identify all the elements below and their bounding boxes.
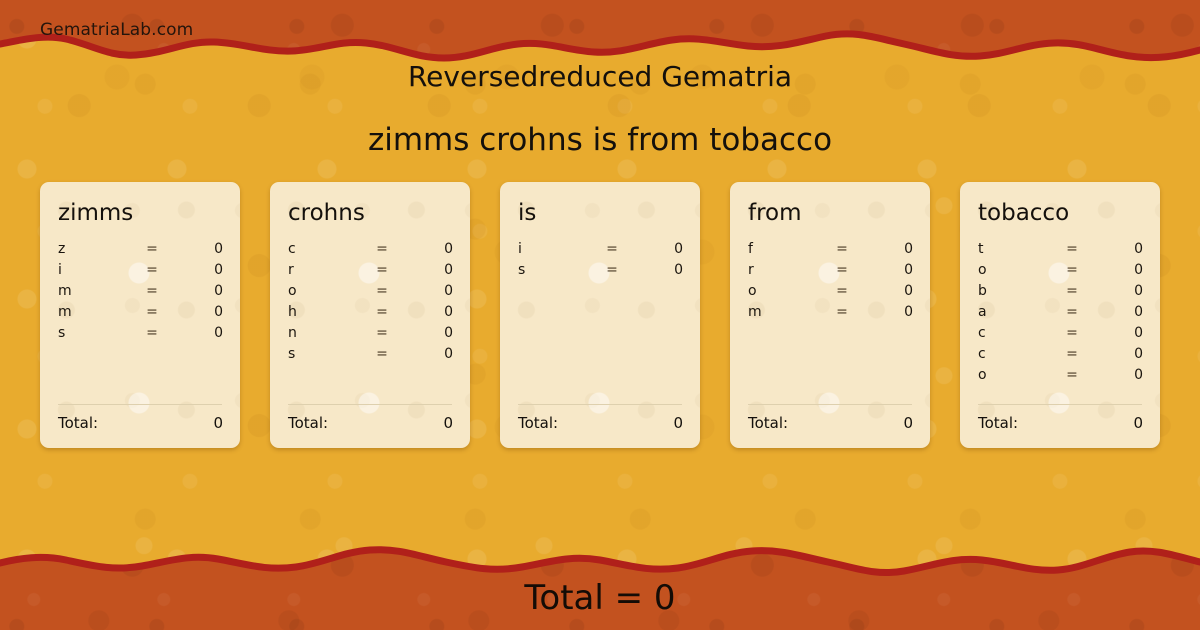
- letter-glyph: o: [288, 283, 361, 299]
- equals-sign: =: [361, 283, 404, 299]
- letter-rows: c=0r=0o=0h=0n=0s=0: [284, 241, 456, 404]
- letter-glyph: h: [288, 304, 361, 320]
- letter-value: 0: [173, 325, 223, 341]
- letter-value: 0: [863, 241, 913, 257]
- letter-value: 0: [403, 325, 453, 341]
- card-divider: [288, 404, 452, 405]
- letter-glyph: s: [288, 346, 361, 362]
- letter-glyph: n: [288, 325, 361, 341]
- letter-glyph: s: [58, 325, 131, 341]
- card-total-label: Total:: [748, 414, 903, 432]
- letter-glyph: c: [978, 325, 1051, 341]
- equals-sign: =: [821, 304, 864, 320]
- letter-value: 0: [1093, 241, 1143, 257]
- letter-value: 0: [633, 241, 683, 257]
- card-word-title: zimms: [58, 202, 226, 225]
- card-total-row: Total:0: [974, 414, 1146, 434]
- card-total-value: 0: [1133, 414, 1143, 432]
- letter-value: 0: [173, 262, 223, 278]
- word-card: fromf=0r=0o=0m=0Total:0: [730, 182, 930, 448]
- letter-row: i=0: [54, 262, 226, 283]
- equals-sign: =: [131, 283, 174, 299]
- equals-sign: =: [591, 241, 634, 257]
- letter-rows: t=0o=0b=0a=0c=0c=0o=0: [974, 241, 1146, 404]
- letter-value: 0: [403, 241, 453, 257]
- card-divider: [978, 404, 1142, 405]
- card-word-title: crohns: [288, 202, 456, 225]
- equals-sign: =: [1051, 367, 1094, 383]
- card-total-row: Total:0: [744, 414, 916, 434]
- letter-value: 0: [403, 346, 453, 362]
- equals-sign: =: [591, 262, 634, 278]
- letter-row: i=0: [514, 241, 686, 262]
- letter-rows: z=0i=0m=0m=0s=0: [54, 241, 226, 404]
- letter-row: s=0: [284, 346, 456, 367]
- equals-sign: =: [821, 241, 864, 257]
- card-total-row: Total:0: [284, 414, 456, 434]
- letter-glyph: o: [748, 283, 821, 299]
- card-word-title: from: [748, 202, 916, 225]
- letter-row: m=0: [54, 283, 226, 304]
- letter-value: 0: [1093, 304, 1143, 320]
- letter-value: 0: [173, 241, 223, 257]
- word-cards-container: zimmsz=0i=0m=0m=0s=0Total:0crohnsc=0r=0o…: [40, 182, 1160, 448]
- letter-row: n=0: [284, 325, 456, 346]
- equals-sign: =: [361, 262, 404, 278]
- letter-glyph: o: [978, 367, 1051, 383]
- letter-glyph: b: [978, 283, 1051, 299]
- card-total-label: Total:: [978, 414, 1133, 432]
- card-divider: [748, 404, 912, 405]
- equals-sign: =: [1051, 325, 1094, 341]
- letter-glyph: r: [288, 262, 361, 278]
- card-total-label: Total:: [288, 414, 443, 432]
- letter-row: f=0: [744, 241, 916, 262]
- letter-glyph: z: [58, 241, 131, 257]
- card-word-title: is: [518, 202, 686, 225]
- card-divider: [58, 404, 222, 405]
- letter-value: 0: [173, 304, 223, 320]
- letter-value: 0: [1093, 283, 1143, 299]
- card-total-value: 0: [213, 414, 223, 432]
- letter-value: 0: [173, 283, 223, 299]
- letter-value: 0: [403, 262, 453, 278]
- card-total-label: Total:: [58, 414, 213, 432]
- card-total-value: 0: [673, 414, 683, 432]
- letter-glyph: s: [518, 262, 591, 278]
- letter-glyph: c: [978, 346, 1051, 362]
- letter-row: r=0: [284, 262, 456, 283]
- letter-glyph: m: [748, 304, 821, 320]
- letter-glyph: c: [288, 241, 361, 257]
- phrase-subtitle: zimms crohns is from tobacco: [0, 122, 1200, 158]
- card-total-value: 0: [903, 414, 913, 432]
- letter-value: 0: [863, 283, 913, 299]
- letter-row: b=0: [974, 283, 1146, 304]
- word-card: crohnsc=0r=0o=0h=0n=0s=0Total:0: [270, 182, 470, 448]
- letter-row: c=0: [284, 241, 456, 262]
- word-card: zimmsz=0i=0m=0m=0s=0Total:0: [40, 182, 240, 448]
- equals-sign: =: [821, 283, 864, 299]
- letter-rows: i=0s=0: [514, 241, 686, 404]
- letter-value: 0: [1093, 325, 1143, 341]
- card-divider: [518, 404, 682, 405]
- letter-value: 0: [633, 262, 683, 278]
- equals-sign: =: [821, 262, 864, 278]
- letter-glyph: m: [58, 283, 131, 299]
- letter-row: s=0: [54, 325, 226, 346]
- card-total-row: Total:0: [54, 414, 226, 434]
- card-total-row: Total:0: [514, 414, 686, 434]
- equals-sign: =: [1051, 346, 1094, 362]
- equals-sign: =: [131, 262, 174, 278]
- card-total-value: 0: [443, 414, 453, 432]
- letter-glyph: i: [58, 262, 131, 278]
- letter-row: o=0: [974, 262, 1146, 283]
- letter-row: s=0: [514, 262, 686, 283]
- letter-row: a=0: [974, 304, 1146, 325]
- site-logo[interactable]: GematriaLab.com: [40, 20, 193, 40]
- letter-value: 0: [1093, 367, 1143, 383]
- equals-sign: =: [1051, 241, 1094, 257]
- card-total-label: Total:: [518, 414, 673, 432]
- equals-sign: =: [361, 304, 404, 320]
- letter-rows: f=0r=0o=0m=0: [744, 241, 916, 404]
- poster-canvas: GematriaLab.com Reversedreduced Gematria…: [0, 0, 1200, 630]
- letter-row: m=0: [744, 304, 916, 325]
- equals-sign: =: [131, 304, 174, 320]
- equals-sign: =: [1051, 262, 1094, 278]
- equals-sign: =: [131, 325, 174, 341]
- letter-row: o=0: [744, 283, 916, 304]
- equals-sign: =: [131, 241, 174, 257]
- word-card: tobaccot=0o=0b=0a=0c=0c=0o=0Total:0: [960, 182, 1160, 448]
- letter-glyph: a: [978, 304, 1051, 320]
- letter-row: z=0: [54, 241, 226, 262]
- letter-row: r=0: [744, 262, 916, 283]
- letter-value: 0: [863, 304, 913, 320]
- letter-glyph: i: [518, 241, 591, 257]
- letter-value: 0: [403, 304, 453, 320]
- letter-glyph: o: [978, 262, 1051, 278]
- letter-value: 0: [403, 283, 453, 299]
- letter-value: 0: [1093, 262, 1143, 278]
- letter-row: o=0: [284, 283, 456, 304]
- letter-row: m=0: [54, 304, 226, 325]
- letter-row: h=0: [284, 304, 456, 325]
- letter-row: t=0: [974, 241, 1146, 262]
- equals-sign: =: [361, 346, 404, 362]
- equals-sign: =: [361, 325, 404, 341]
- equals-sign: =: [361, 241, 404, 257]
- equals-sign: =: [1051, 283, 1094, 299]
- equals-sign: =: [1051, 304, 1094, 320]
- letter-glyph: m: [58, 304, 131, 320]
- grand-total: Total = 0: [0, 578, 1200, 618]
- letter-glyph: r: [748, 262, 821, 278]
- letter-glyph: f: [748, 241, 821, 257]
- letter-row: c=0: [974, 325, 1146, 346]
- letter-value: 0: [1093, 346, 1143, 362]
- letter-row: o=0: [974, 367, 1146, 388]
- word-card: isi=0s=0Total:0: [500, 182, 700, 448]
- letter-value: 0: [863, 262, 913, 278]
- page-title: Reversedreduced Gematria: [0, 60, 1200, 93]
- letter-glyph: t: [978, 241, 1051, 257]
- card-word-title: tobacco: [978, 202, 1146, 225]
- letter-row: c=0: [974, 346, 1146, 367]
